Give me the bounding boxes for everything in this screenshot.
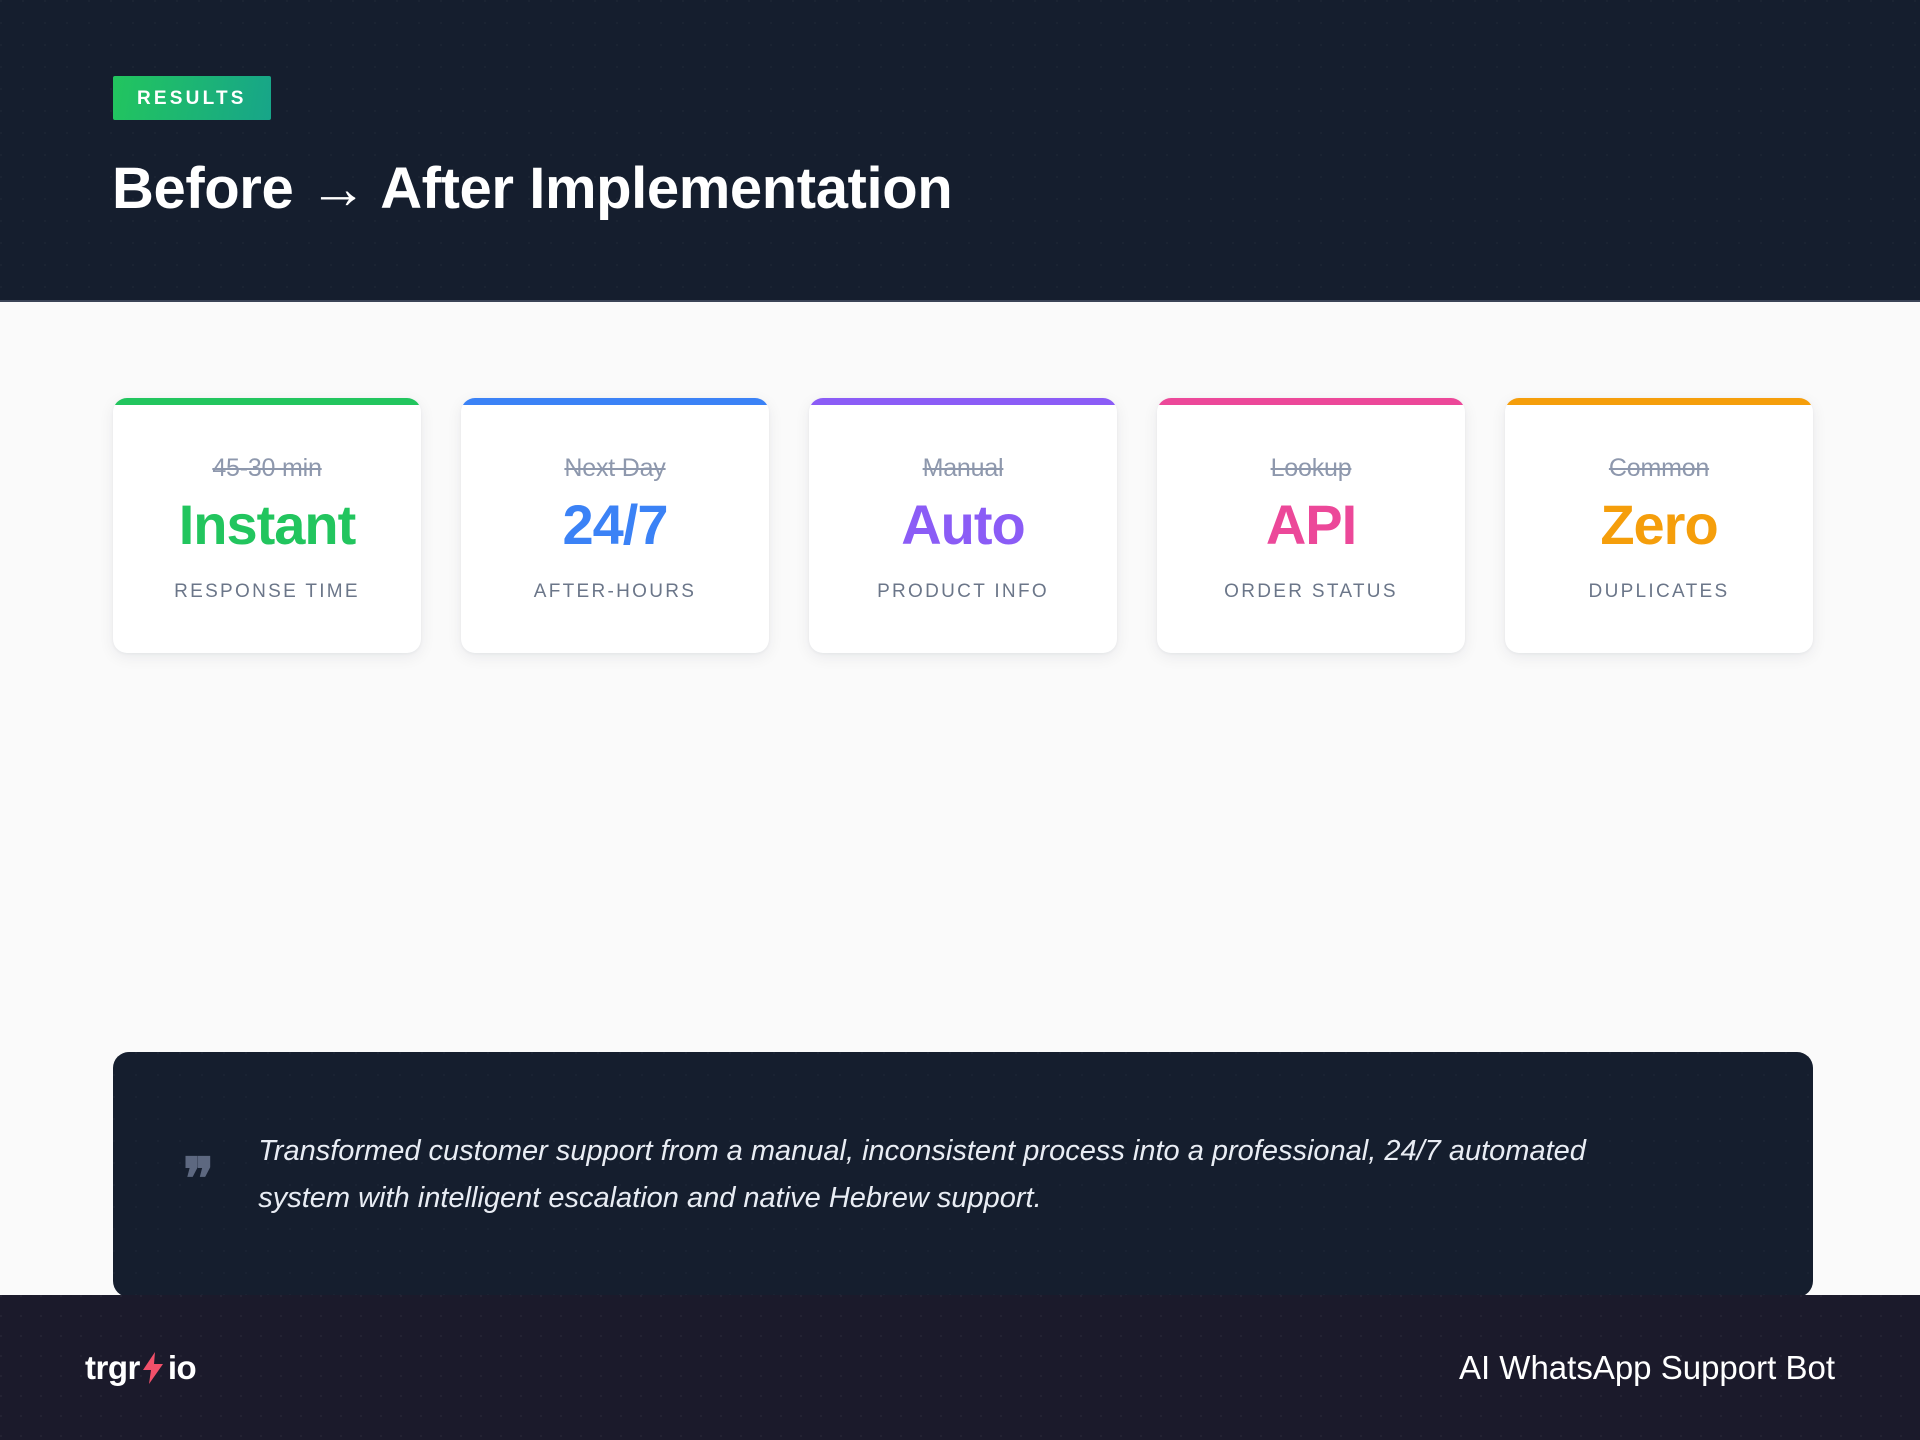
metric-card-duplicates: Common Zero DUPLICATES xyxy=(1505,398,1813,653)
logo-text-left: trgr xyxy=(85,1349,140,1387)
metric-card-after-hours: Next Day 24/7 AFTER-HOURS xyxy=(461,398,769,653)
card-label: PRODUCT INFO xyxy=(877,581,1049,603)
footer-project-title: AI WhatsApp Support Bot xyxy=(1459,1349,1835,1387)
card-after-value: 24/7 xyxy=(563,497,668,553)
card-label: AFTER-HOURS xyxy=(534,581,697,603)
metric-card-response-time: 45-30 min Instant RESPONSE TIME xyxy=(113,398,421,653)
card-label: DUPLICATES xyxy=(1589,581,1730,603)
slide-footer: trgr io AI WhatsApp Support Bot xyxy=(0,1295,1920,1440)
card-after-value: API xyxy=(1266,497,1356,553)
card-before-value: Next Day xyxy=(564,454,665,483)
card-before-value: Common xyxy=(1609,454,1709,483)
metric-card-order-status: Lookup API ORDER STATUS xyxy=(1157,398,1465,653)
card-after-value: Instant xyxy=(179,497,356,553)
card-after-value: Auto xyxy=(901,497,1025,553)
card-accent-bar xyxy=(1505,398,1813,405)
logo-text-right: io xyxy=(168,1349,196,1387)
quote-text: Transformed customer support from a manu… xyxy=(258,1128,1638,1222)
metric-card-product-info: Manual Auto PRODUCT INFO xyxy=(809,398,1117,653)
slide-header: RESULTS Before → After Implementation xyxy=(0,0,1920,302)
lightning-bolt-icon xyxy=(141,1352,165,1384)
card-accent-bar xyxy=(809,398,1117,405)
results-badge: RESULTS xyxy=(113,76,271,120)
slide-root: RESULTS Before → After Implementation 45… xyxy=(0,0,1920,1440)
card-accent-bar xyxy=(113,398,421,405)
quote-mark-icon: ❞ xyxy=(183,1165,214,1194)
card-label: RESPONSE TIME xyxy=(174,581,360,603)
card-before-value: Manual xyxy=(923,454,1004,483)
brand-logo: trgr io xyxy=(85,1349,196,1387)
metric-card-row: 45-30 min Instant RESPONSE TIME Next Day… xyxy=(113,398,1813,653)
card-label: ORDER STATUS xyxy=(1224,581,1398,603)
quote-panel: ❞ Transformed customer support from a ma… xyxy=(113,1052,1813,1297)
card-after-value: Zero xyxy=(1600,497,1717,553)
slide-body: 45-30 min Instant RESPONSE TIME Next Day… xyxy=(0,302,1920,1295)
page-title: Before → After Implementation xyxy=(112,155,952,222)
card-before-value: 45-30 min xyxy=(212,454,321,483)
card-accent-bar xyxy=(461,398,769,405)
card-accent-bar xyxy=(1157,398,1465,405)
card-before-value: Lookup xyxy=(1271,454,1352,483)
